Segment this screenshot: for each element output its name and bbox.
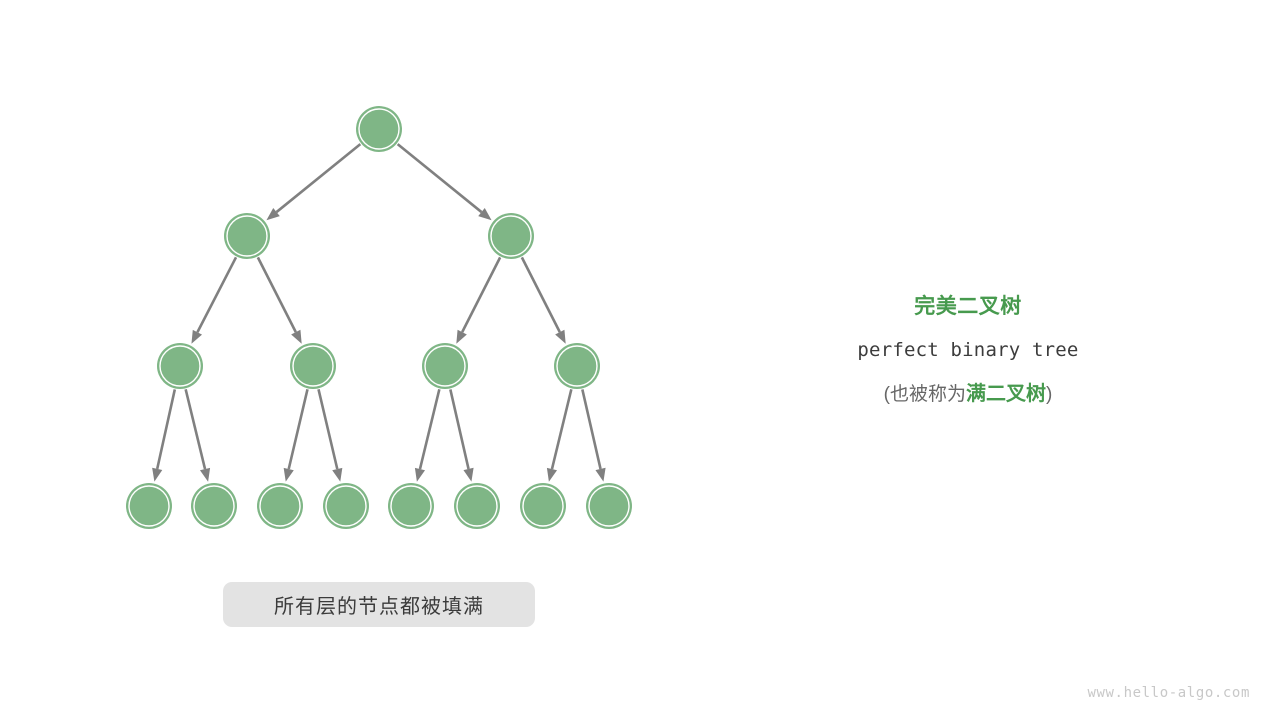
tree-node-disc (554, 343, 600, 389)
tree-edge-arrowhead (595, 468, 605, 482)
legend-alias-suffix: ) (1046, 384, 1052, 405)
tree-edge (582, 389, 600, 469)
legend-title-en: perfect binary tree (806, 333, 1130, 367)
tree-node[interactable] (520, 483, 566, 529)
tree-edge-arrowhead (284, 468, 294, 482)
tree-node-disc (323, 483, 369, 529)
tree-edge-arrowhead (547, 468, 557, 482)
tree-edge (289, 389, 308, 469)
tree-edge (522, 257, 560, 332)
tree-edge-arrowhead (291, 330, 302, 344)
tree-edge (450, 389, 468, 469)
tree-node[interactable] (554, 343, 600, 389)
tree-node-disc (224, 213, 270, 259)
tree-edge (197, 257, 236, 332)
tree-edge (398, 144, 482, 212)
tree-edge (552, 389, 571, 469)
tree-edge (319, 389, 338, 469)
tree-edges (152, 144, 605, 482)
tree-edge-arrowhead (152, 468, 162, 482)
tree-node[interactable] (126, 483, 172, 529)
diagram-stage: 完美二叉树 perfect binary tree (也被称为满二叉树) 所有层… (0, 0, 1280, 720)
tree-node[interactable] (422, 343, 468, 389)
tree-edge-arrowhead (332, 468, 342, 482)
tree-node[interactable] (388, 483, 434, 529)
watermark-text: www.hello-algo.com (1087, 685, 1250, 701)
tree-edge-arrowhead (415, 468, 425, 482)
tree-node-disc (290, 343, 336, 389)
tree-node[interactable] (356, 106, 402, 152)
tree-node[interactable] (323, 483, 369, 529)
tree-edge (157, 389, 175, 468)
tree-node-disc (488, 213, 534, 259)
tree-node[interactable] (191, 483, 237, 529)
tree-node-disc (454, 483, 500, 529)
tree-edge (186, 389, 205, 469)
tree-node-disc (520, 483, 566, 529)
tree-node[interactable] (454, 483, 500, 529)
tree-edge-arrowhead (191, 330, 202, 344)
legend-alias: (也被称为满二叉树) (806, 379, 1130, 410)
legend-title-cn: 完美二叉树 (806, 292, 1130, 322)
legend-alias-strong: 满二叉树 (966, 383, 1046, 405)
caption-pill: 所有层的节点都被填满 (223, 582, 535, 627)
tree-node-disc (126, 483, 172, 529)
tree-node-disc (157, 343, 203, 389)
legend-alias-prefix: (也被称为 (884, 384, 966, 405)
tree-node[interactable] (257, 483, 303, 529)
tree-node-disc (356, 106, 402, 152)
tree-edge-arrowhead (456, 330, 467, 344)
tree-node-disc (586, 483, 632, 529)
tree-edge-arrowhead (555, 330, 566, 344)
tree-node[interactable] (290, 343, 336, 389)
tree-nodes (126, 106, 632, 529)
tree-edge (462, 257, 500, 332)
tree-edge-arrowhead (200, 468, 210, 482)
legend-block: 完美二叉树 perfect binary tree (也被称为满二叉树) (806, 292, 1130, 410)
tree-node[interactable] (224, 213, 270, 259)
tree-edge (420, 389, 439, 469)
tree-node-disc (422, 343, 468, 389)
tree-node[interactable] (586, 483, 632, 529)
tree-node[interactable] (157, 343, 203, 389)
tree-node-disc (257, 483, 303, 529)
caption-text: 所有层的节点都被填满 (274, 590, 484, 619)
tree-node[interactable] (488, 213, 534, 259)
tree-node-disc (191, 483, 237, 529)
tree-edge-arrowhead (463, 468, 473, 482)
tree-edge (277, 144, 361, 212)
tree-edge (258, 257, 296, 332)
tree-node-disc (388, 483, 434, 529)
